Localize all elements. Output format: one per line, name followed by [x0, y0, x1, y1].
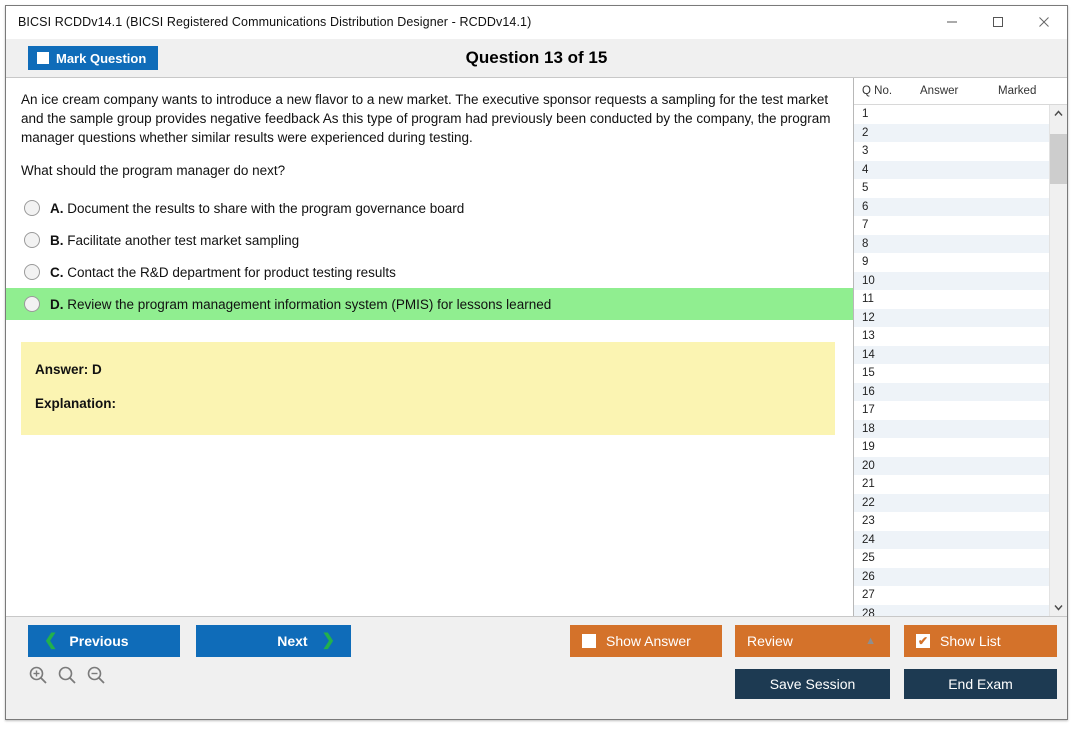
show-list-toggle[interactable]: ✔ Show List	[904, 625, 1057, 657]
review-label: Review	[747, 633, 793, 649]
answer-option-c[interactable]: C. Contact the R&D department for produc…	[6, 256, 853, 288]
answer-option-label: C. Contact the R&D department for produc…	[50, 265, 396, 280]
question-list-cell-qno: 25	[854, 552, 912, 564]
answer-option-b[interactable]: B. Facilitate another test market sampli…	[6, 224, 853, 256]
show-answer-label: Show Answer	[606, 633, 691, 649]
question-list-cell-qno: 7	[854, 219, 912, 231]
question-list-row[interactable]: 3	[854, 142, 1049, 161]
chevron-up-icon	[1054, 110, 1063, 117]
application-window: BICSI RCDDv14.1 (BICSI Registered Commun…	[5, 5, 1068, 720]
maximize-icon	[992, 16, 1004, 28]
exam-application-screen: BICSI RCDDv14.1 (BICSI Registered Commun…	[0, 0, 1075, 735]
question-list-row[interactable]: 28	[854, 605, 1049, 617]
question-list-cell-qno: 6	[854, 201, 912, 213]
question-list-cell-qno: 24	[854, 534, 912, 546]
answer-option-letter: B.	[50, 233, 64, 248]
question-list-cell-qno: 1	[854, 108, 912, 120]
question-list-row[interactable]: 12	[854, 309, 1049, 328]
answer-option-text: Document the results to share with the p…	[67, 201, 464, 216]
window-titlebar: BICSI RCDDv14.1 (BICSI Registered Commun…	[6, 6, 1067, 39]
zoom-out-icon[interactable]	[86, 665, 106, 685]
question-list-cell-qno: 14	[854, 349, 912, 361]
show-answer-checkbox-icon	[582, 634, 596, 648]
question-list-scrollbar[interactable]	[1049, 105, 1067, 616]
column-header-answer: Answer	[920, 85, 998, 97]
question-list-row[interactable]: 19	[854, 438, 1049, 457]
question-list-row[interactable]: 2	[854, 124, 1049, 143]
question-list-cell-qno: 26	[854, 571, 912, 583]
answer-option-d[interactable]: D. Review the program management informa…	[6, 288, 853, 320]
answer-option-letter: A.	[50, 201, 64, 216]
question-list-row[interactable]: 24	[854, 531, 1049, 550]
question-list-cell-qno: 3	[854, 145, 912, 157]
show-list-label: Show List	[940, 633, 1001, 649]
mark-question-checkbox-icon	[37, 52, 49, 64]
question-list-row[interactable]: 14	[854, 346, 1049, 365]
question-list-cell-qno: 15	[854, 367, 912, 379]
radio-button[interactable]	[24, 200, 40, 216]
question-list-row[interactable]: 20	[854, 457, 1049, 476]
maximize-button[interactable]	[975, 6, 1021, 38]
question-counter: Question 13 of 15	[6, 48, 1067, 68]
question-list-row[interactable]: 6	[854, 198, 1049, 217]
question-list-row[interactable]: 23	[854, 512, 1049, 531]
question-list-body: 1234567891011121314151617181920212223242…	[854, 105, 1067, 616]
question-list-row[interactable]: 16	[854, 383, 1049, 402]
answer-option-label: B. Facilitate another test market sampli…	[50, 233, 299, 248]
question-list-cell-qno: 18	[854, 423, 912, 435]
question-list-row[interactable]: 11	[854, 290, 1049, 309]
save-session-button[interactable]: Save Session	[735, 669, 890, 699]
answer-option-letter: D.	[50, 297, 64, 312]
show-list-checkbox-icon: ✔	[916, 634, 930, 648]
question-list-cell-qno: 21	[854, 478, 912, 490]
answer-option-label: D. Review the program management informa…	[50, 297, 551, 312]
question-list-cell-qno: 13	[854, 330, 912, 342]
question-list-cell-qno: 11	[854, 293, 912, 305]
answer-option-text: Facilitate another test market sampling	[67, 233, 299, 248]
exam-footer-toolbar: ❮ Previous Next ❯ Show Answer Review ▲ ✔…	[6, 616, 1067, 719]
next-button[interactable]: Next ❯	[196, 625, 351, 657]
question-list-cell-qno: 9	[854, 256, 912, 268]
save-session-label: Save Session	[770, 676, 856, 692]
close-icon	[1038, 16, 1050, 28]
window-title: BICSI RCDDv14.1 (BICSI Registered Commun…	[6, 15, 531, 29]
scroll-up-button[interactable]	[1050, 105, 1067, 122]
column-header-qno: Q No.	[854, 85, 920, 97]
radio-button[interactable]	[24, 232, 40, 248]
question-list-row[interactable]: 18	[854, 420, 1049, 439]
previous-button[interactable]: ❮ Previous	[28, 625, 180, 657]
question-list-cell-qno: 4	[854, 164, 912, 176]
question-list-row[interactable]: 10	[854, 272, 1049, 291]
answer-options-list: A. Document the results to share with th…	[6, 192, 853, 320]
question-list-cell-qno: 12	[854, 312, 912, 324]
question-list-cell-qno: 19	[854, 441, 912, 453]
question-list-row[interactable]: 17	[854, 401, 1049, 420]
question-list-cell-qno: 20	[854, 460, 912, 472]
answer-value: Answer: D	[35, 362, 835, 377]
zoom-controls	[28, 665, 106, 685]
question-list-cell-qno: 17	[854, 404, 912, 416]
question-list-cell-qno: 28	[854, 608, 912, 616]
scrollbar-thumb[interactable]	[1050, 134, 1067, 184]
close-button[interactable]	[1021, 6, 1067, 38]
column-header-marked: Marked	[998, 85, 1067, 97]
question-list-pane: Q No. Answer Marked 12345678910111213141…	[853, 78, 1067, 616]
answer-option-text: Contact the R&D department for product t…	[67, 265, 396, 280]
question-list-cell-qno: 23	[854, 515, 912, 527]
chevron-down-icon	[1054, 604, 1063, 611]
question-pane: An ice cream company wants to introduce …	[6, 78, 853, 616]
end-exam-button[interactable]: End Exam	[904, 669, 1057, 699]
question-body-text: An ice cream company wants to introduce …	[6, 78, 853, 147]
radio-button[interactable]	[24, 264, 40, 280]
question-list-row[interactable]: 9	[854, 253, 1049, 272]
question-list-rows: 1234567891011121314151617181920212223242…	[854, 105, 1049, 616]
scroll-down-button[interactable]	[1050, 599, 1067, 616]
answer-option-label: A. Document the results to share with th…	[50, 201, 464, 216]
question-list-row[interactable]: 1	[854, 105, 1049, 124]
question-list-cell-qno: 8	[854, 238, 912, 250]
minimize-button[interactable]	[929, 6, 975, 38]
question-list-cell-qno: 2	[854, 127, 912, 139]
question-list-cell-qno: 10	[854, 275, 912, 287]
question-list-row[interactable]: 21	[854, 475, 1049, 494]
answer-option-letter: C.	[50, 265, 64, 280]
answer-option-a[interactable]: A. Document the results to share with th…	[6, 192, 853, 224]
mark-question-button[interactable]: Mark Question	[28, 46, 158, 70]
question-list-cell-qno: 16	[854, 386, 912, 398]
chevron-left-icon: ❮	[44, 633, 57, 649]
answer-explanation-panel: Answer: D Explanation:	[21, 342, 835, 435]
minimize-icon	[946, 16, 958, 28]
question-list-row[interactable]: 8	[854, 235, 1049, 254]
review-dropdown[interactable]: Review ▲	[735, 625, 890, 657]
mark-question-label: Mark Question	[56, 51, 146, 66]
end-exam-label: End Exam	[948, 676, 1013, 692]
check-glyph: ✔	[918, 635, 928, 647]
exam-body: An ice cream company wants to introduce …	[6, 77, 1067, 616]
scrollbar-track[interactable]	[1050, 122, 1067, 599]
question-list-cell-qno: 5	[854, 182, 912, 194]
caret-up-icon: ▲	[865, 635, 876, 647]
question-prompt-text: What should the program manager do next?	[6, 147, 853, 178]
zoom-in-icon[interactable]	[28, 665, 48, 685]
exam-header-bar: Mark Question Question 13 of 15	[6, 39, 1067, 77]
chevron-right-icon: ❯	[322, 633, 335, 649]
question-list-row[interactable]: 13	[854, 327, 1049, 346]
question-list-row[interactable]: 15	[854, 364, 1049, 383]
question-list-row[interactable]: 27	[854, 586, 1049, 605]
answer-option-text: Review the program management informatio…	[67, 297, 551, 312]
question-list-row[interactable]: 22	[854, 494, 1049, 513]
question-list-header: Q No. Answer Marked	[854, 78, 1067, 105]
question-list-row[interactable]: 25	[854, 549, 1049, 568]
question-list-row[interactable]: 4	[854, 161, 1049, 180]
question-list-cell-qno: 22	[854, 497, 912, 509]
question-list-row[interactable]: 26	[854, 568, 1049, 587]
question-list-row[interactable]: 5	[854, 179, 1049, 198]
zoom-reset-icon[interactable]	[57, 665, 77, 685]
previous-label: Previous	[69, 633, 128, 649]
radio-button[interactable]	[24, 296, 40, 312]
next-label: Next	[277, 633, 307, 649]
window-controls	[929, 6, 1067, 38]
question-list-cell-qno: 27	[854, 589, 912, 601]
show-answer-toggle[interactable]: Show Answer	[570, 625, 722, 657]
question-list-row[interactable]: 7	[854, 216, 1049, 235]
explanation-label: Explanation:	[35, 396, 835, 411]
